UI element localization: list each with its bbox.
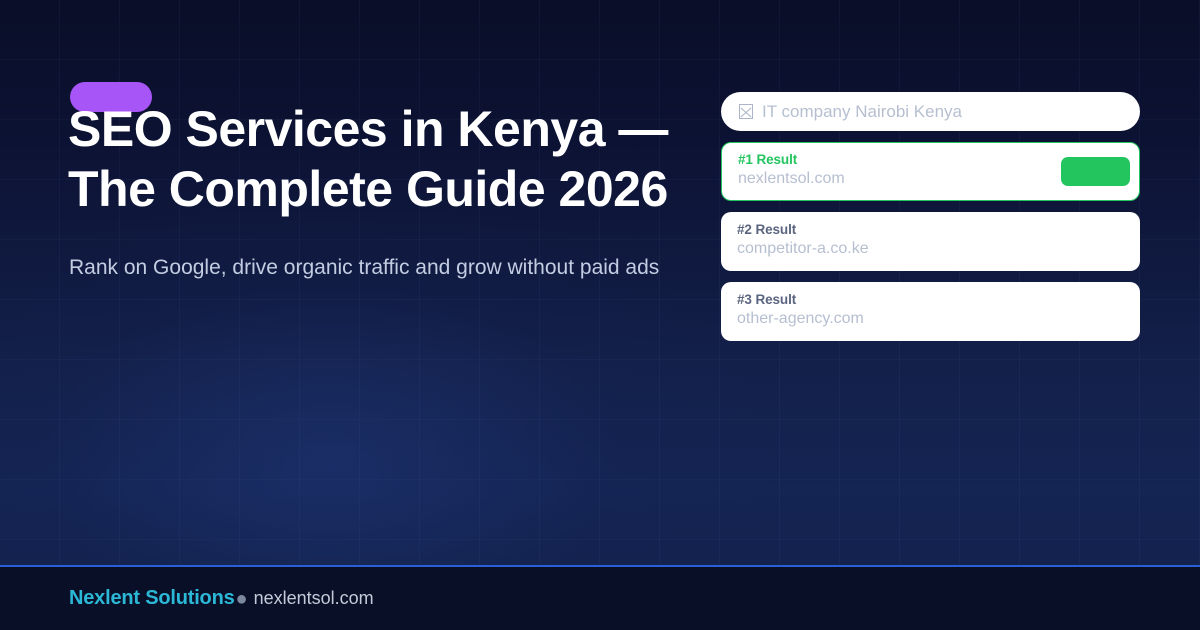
result-url[interactable]: other-agency.com	[737, 308, 1124, 330]
search-icon	[739, 104, 753, 119]
top-rank-badge	[1061, 157, 1130, 186]
footer-bar: Nexlent Solutions ● nexlentsol.com	[0, 567, 1200, 630]
brand-name: Nexlent Solutions	[69, 587, 235, 610]
result-url[interactable]: competitor-a.co.ke	[737, 238, 1124, 260]
brand-separator-dot: ●	[236, 589, 248, 609]
brand-website: nexlentsol.com	[254, 588, 374, 609]
serp-result-row-1[interactable]: #1 Result nexlentsol.com	[721, 142, 1140, 201]
page-subtitle: Rank on Google, drive organic traffic an…	[69, 252, 729, 283]
page-title: SEO Services in Kenya — The Complete Gui…	[68, 99, 768, 219]
result-rank-label: #3 Result	[737, 291, 1124, 308]
serp-result-row-3[interactable]: #3 Result other-agency.com	[721, 282, 1140, 341]
serp-result-row-2[interactable]: #2 Result competitor-a.co.ke	[721, 212, 1140, 271]
background-glow	[0, 180, 780, 630]
og-image-canvas: SEO Services in Kenya — The Complete Gui…	[0, 0, 1200, 630]
serp-mockup: IT company Nairobi Kenya #1 Result nexle…	[721, 92, 1140, 341]
result-rank-label: #2 Result	[737, 221, 1124, 238]
search-input[interactable]: IT company Nairobi Kenya	[762, 102, 962, 122]
search-bar[interactable]: IT company Nairobi Kenya	[721, 92, 1140, 131]
